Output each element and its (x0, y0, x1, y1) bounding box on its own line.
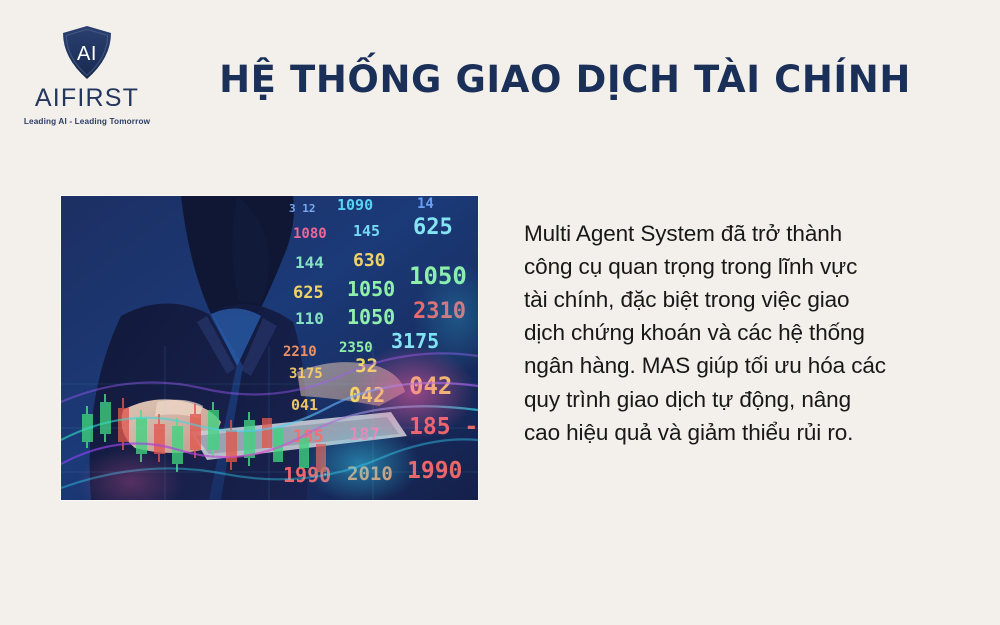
svg-text:2350: 2350 (339, 340, 373, 356)
svg-text:144: 144 (295, 253, 324, 272)
svg-text:1090: 1090 (337, 196, 373, 214)
svg-text:2210: 2210 (283, 344, 317, 360)
svg-text:145: 145 (353, 222, 380, 240)
svg-text:14: 14 (417, 196, 434, 212)
svg-text:041: 041 (291, 396, 318, 414)
svg-text:3175: 3175 (289, 366, 323, 382)
svg-text:1080: 1080 (293, 226, 327, 242)
page-title: HỆ THỐNG GIAO DỊCH TÀI CHÍNH (170, 58, 960, 101)
body-paragraph: Multi Agent System đã trở thành công cụ … (524, 217, 886, 449)
svg-text:1050: 1050 (347, 277, 395, 301)
brand-tagline: Leading AI - Leading Tomorrow (22, 117, 152, 126)
svg-text:630: 630 (353, 250, 386, 271)
shield-ai-icon: AI (22, 24, 152, 82)
brand-wordmark: AIFIRST (22, 84, 152, 113)
svg-text:625: 625 (413, 215, 453, 240)
svg-text:625: 625 (293, 283, 324, 303)
svg-text:AI: AI (77, 43, 97, 65)
brand-logo: AI AIFIRST Leading AI - Leading Tomorrow (22, 24, 152, 126)
svg-text:1050: 1050 (347, 305, 395, 329)
svg-text:3 12: 3 12 (289, 202, 316, 215)
financial-trading-photo: 3 12 1090 14 1080 145 625 144 630 625 10… (61, 196, 478, 500)
svg-text:110: 110 (295, 309, 324, 328)
